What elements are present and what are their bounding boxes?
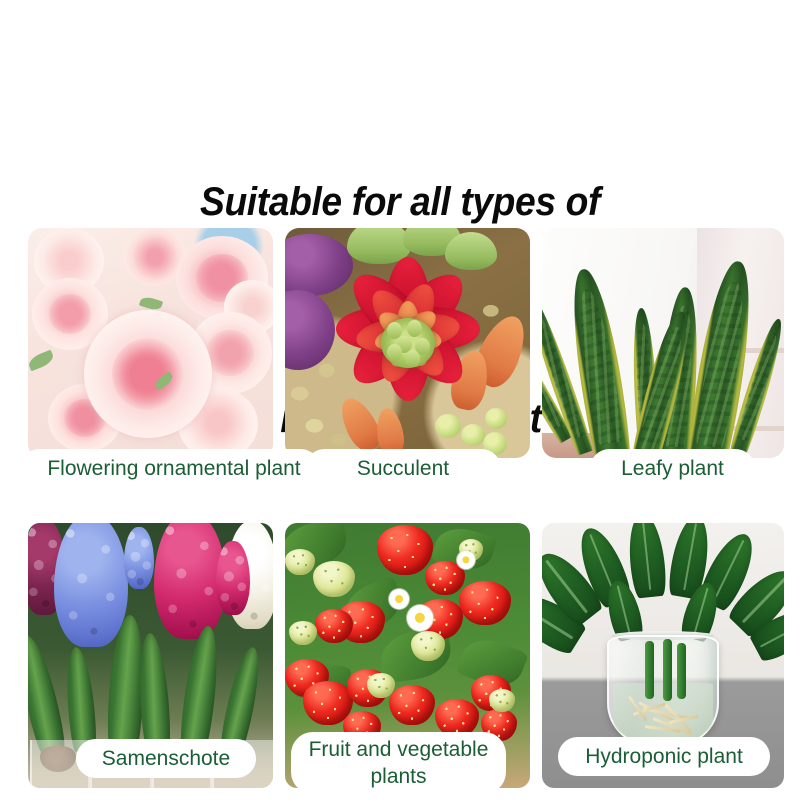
glass-vase [607, 635, 719, 749]
plant-tile-leafy-plant[interactable]: Leafy plant [542, 228, 784, 458]
plant-tile-label-flowering-ornamental-plant: Flowering ornamental plant [20, 449, 320, 488]
plant-tile-label-samenschote: Samenschote [76, 739, 256, 778]
succulent-core [381, 318, 435, 368]
plant-tile-label-leafy-plant: Leafy plant [590, 449, 755, 488]
plant-tile-label-succulent: Succulent [305, 449, 501, 488]
plant-tile-succulent[interactable]: Succulent [285, 228, 530, 458]
plant-tile-hydroponic-plant[interactable]: Hydroponic plant [542, 523, 784, 788]
plant-tile-samenschote[interactable]: Samenschote [28, 523, 273, 788]
plant-photo-roses [28, 228, 273, 458]
plant-photo-snake-plant [542, 228, 784, 458]
plant-type-grid: Flowering ornamental plant [28, 228, 772, 788]
plant-photo-succulent [285, 228, 530, 458]
plant-tile-label-fruit-and-vegetable-plants: Fruit and vegetable plants [291, 732, 506, 794]
plant-tile-fruit-and-vegetable-plants[interactable]: Fruit and vegetable plants [285, 523, 530, 788]
plant-tile-label-hydroponic-plant: Hydroponic plant [558, 737, 770, 776]
plant-tile-flowering-ornamental-plant[interactable]: Flowering ornamental plant [28, 228, 273, 458]
